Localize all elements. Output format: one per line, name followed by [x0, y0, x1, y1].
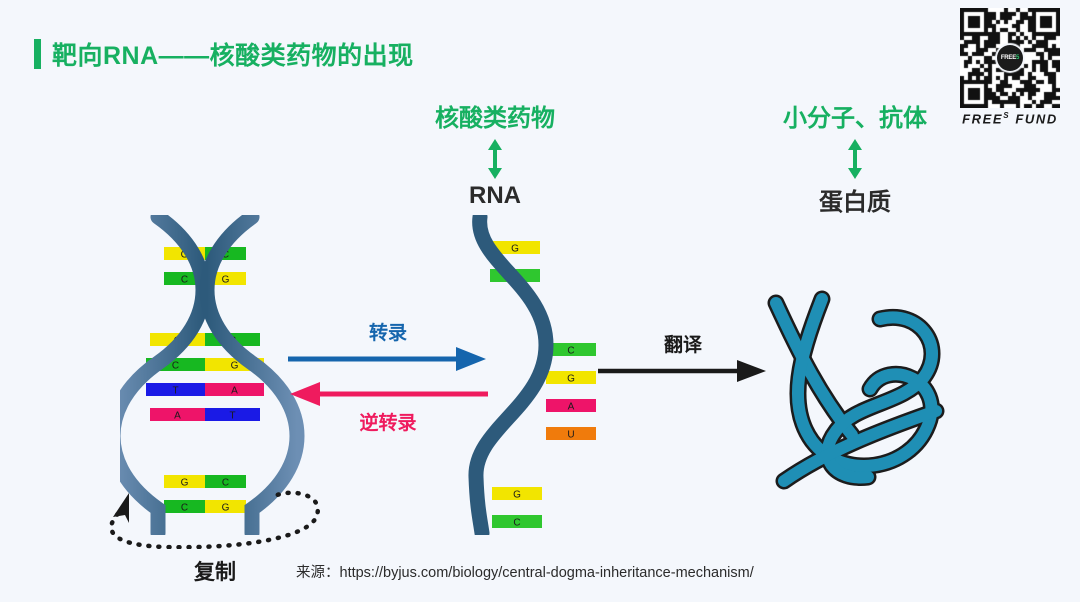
arrow-right-transcription-icon: [288, 346, 488, 372]
qr-logo-digit: 5: [1016, 55, 1019, 61]
arrow-left-reverse-transcription-icon: [288, 381, 488, 407]
transcription-label: 转录: [288, 318, 488, 345]
folded-protein-icon: [760, 285, 960, 495]
brand-caption-sup: S: [1003, 111, 1010, 120]
dna-base-letter: C: [181, 275, 188, 286]
callout-drug-label: 小分子、抗体: [730, 98, 980, 133]
double-arrow-vertical-icon: [844, 138, 866, 180]
dna-base-letter: C: [172, 361, 179, 372]
title-accent-bar: [34, 39, 41, 69]
rna-base-letter: C: [513, 518, 520, 529]
rna-base-letter: U: [567, 430, 574, 441]
dna-base-letter: G: [222, 275, 230, 286]
brand-caption-suffix: FUND: [1015, 111, 1058, 126]
reverse-transcription-label: 逆转录: [288, 408, 488, 435]
dna-base-letter: T: [229, 411, 235, 422]
transcription-arrow-group: 转录 逆转录: [288, 318, 488, 435]
rna-base-letter: G: [513, 490, 521, 501]
dna-base-letter: T: [172, 386, 178, 397]
dna-base-letter: A: [174, 411, 181, 422]
rna-base-letter: G: [511, 244, 519, 255]
title-text: 靶向RNA——核酸类药物的出现: [52, 36, 414, 72]
callout-target-label: 蛋白质: [730, 182, 980, 217]
qr-code-icon[interactable]: FREE5: [960, 8, 1060, 108]
translation-label: 翻译: [598, 330, 768, 357]
callout-small-molecule-antibody: 小分子、抗体 蛋白质: [730, 98, 980, 217]
callout-target-label: RNA: [365, 182, 625, 210]
rna-base-letter: C: [567, 346, 574, 357]
dna-base-letter: G: [231, 361, 239, 372]
page-title: 靶向RNA——核酸类药物的出现: [34, 36, 414, 72]
callout-drug-label: 核酸类药物: [365, 98, 625, 133]
replication-dotted-loop-icon: [95, 487, 335, 549]
qr-logo-free: FREE: [1001, 55, 1016, 61]
rna-base-letter: G: [567, 374, 575, 385]
source-credit: 来源：https://byjus.com/biology/central-dog…: [296, 561, 754, 582]
arrow-right-translation-icon: [598, 359, 768, 383]
protein-molecule-figure: [760, 285, 960, 500]
dna-base-letter: A: [231, 386, 238, 397]
qr-center-logo: FREE5: [997, 45, 1023, 71]
translation-arrow-group: 翻译: [598, 330, 768, 388]
rna-base-letter: A: [568, 402, 575, 413]
double-arrow-vertical-icon: [484, 138, 506, 180]
callout-nucleic-acid-drug: 核酸类药物 RNA: [365, 98, 625, 210]
slide-canvas: 靶向RNA——核酸类药物的出现 FREE5 FREES FUND 核酸类药物 R…: [0, 0, 1080, 602]
